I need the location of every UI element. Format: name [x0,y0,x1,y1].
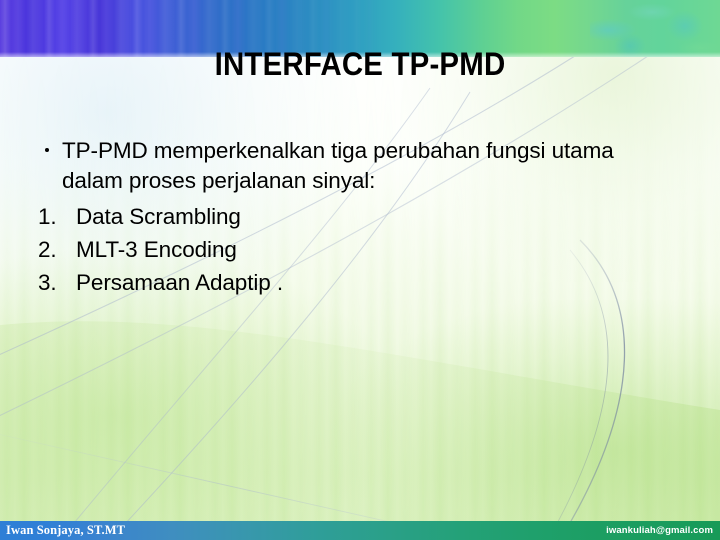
numbered-list-item-label: MLT-3 Encoding [76,237,237,262]
bullet-item-label: TP-PMD memperkenalkan tiga perubahan fun… [62,136,678,196]
footer-bar: Iwan Sonjaya, ST.MT iwankuliah@gmail.com [0,521,720,540]
numbered-list-item-marker: 3. [38,266,66,299]
numbered-list-item-marker: 1. [38,200,66,233]
numbered-list: 1. Data Scrambling 2. MLT-3 Encoding 3. … [38,200,678,299]
numbered-list-item-marker: 2. [38,233,66,266]
bullet-list-item: TP-PMD memperkenalkan tiga perubahan fun… [38,136,678,196]
footer-author: Iwan Sonjaya, ST.MT [6,523,125,538]
bullet-dot-icon [45,148,49,152]
footer-email: iwankuliah@gmail.com [606,525,713,536]
numbered-list-item-label: Data Scrambling [76,204,241,229]
slide-canvas: INTERFACE TP-PMD TP-PMD memperkenalkan t… [0,0,720,540]
numbered-list-item: 1. Data Scrambling [38,200,678,233]
page-title: INTERFACE TP-PMD [29,48,691,82]
numbered-list-item-label: Persamaan Adaptip . [76,270,283,295]
numbered-list-item: 3. Persamaan Adaptip . [38,266,678,299]
numbered-list-item: 2. MLT-3 Encoding [38,233,678,266]
slide-body: TP-PMD memperkenalkan tiga perubahan fun… [38,136,678,299]
